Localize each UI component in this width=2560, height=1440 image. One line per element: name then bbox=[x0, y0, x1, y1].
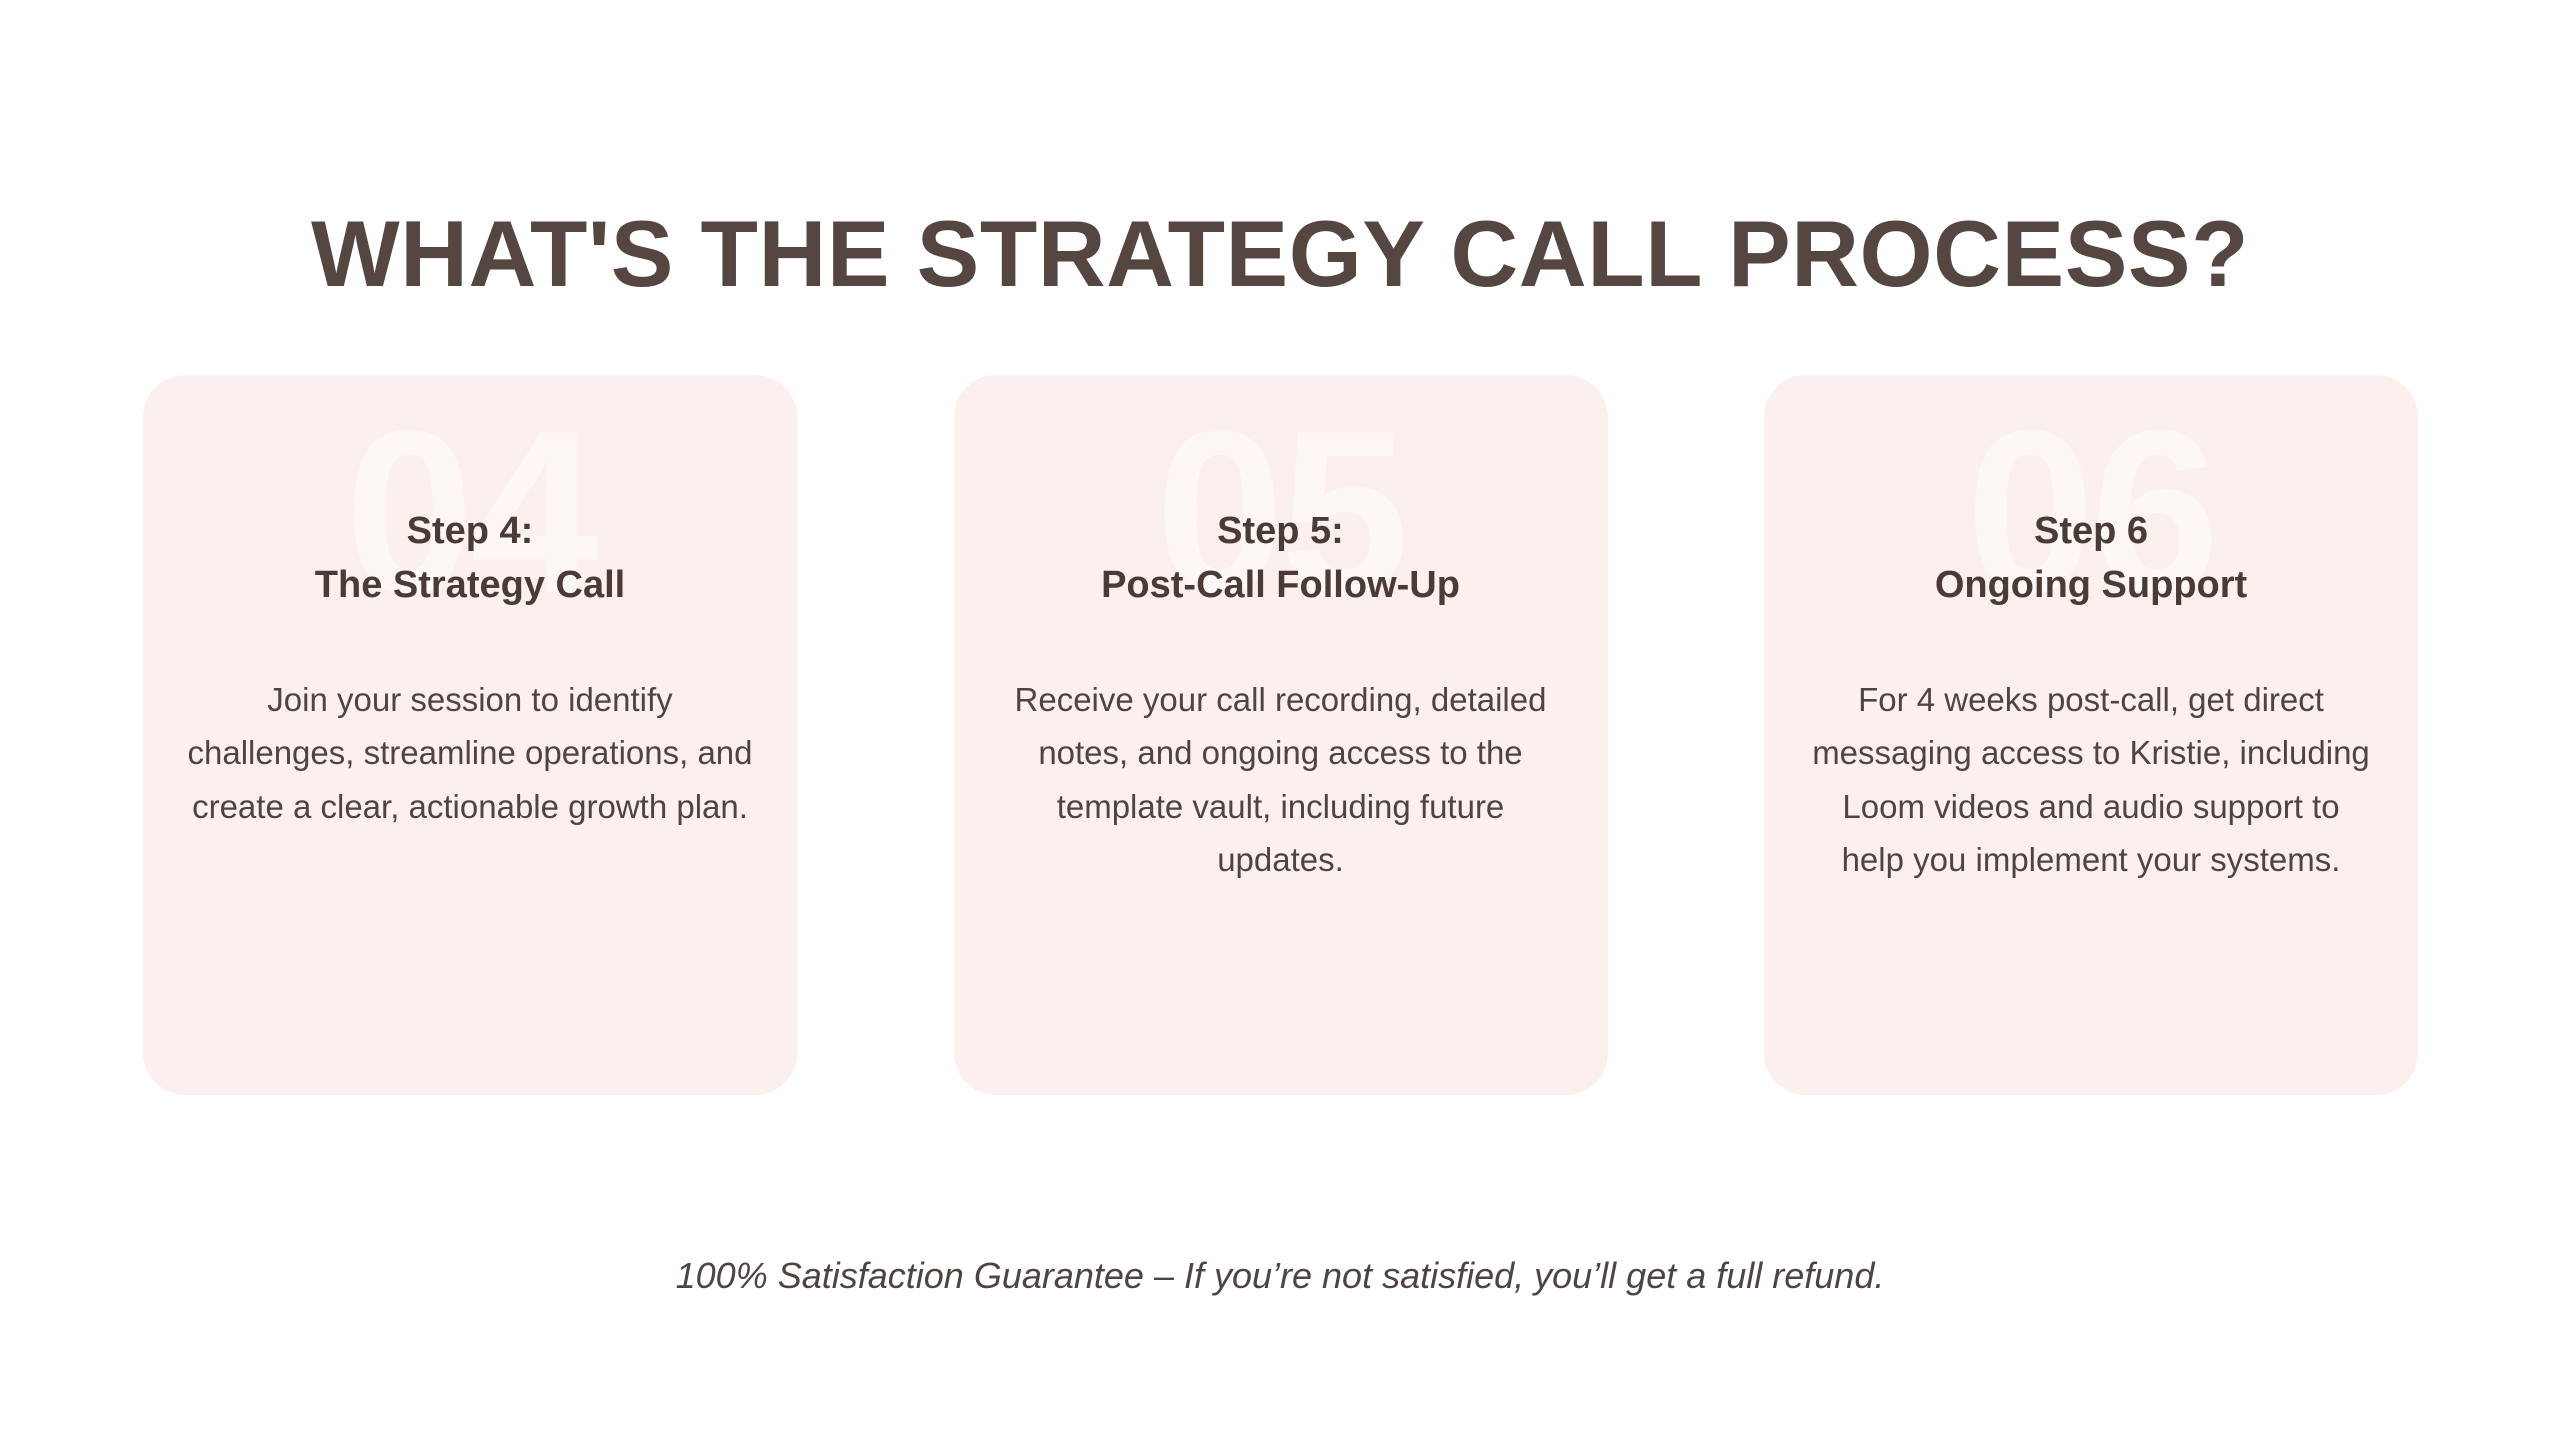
step-card-4: 04 Step 4: The Strategy Call Join your s… bbox=[143, 375, 797, 1095]
slide-canvas: WHAT'S THE STRATEGY CALL PROCESS? 04 Ste… bbox=[0, 0, 2560, 1440]
step-card-5-content: Step 5: Post-Call Follow-Up Receive your… bbox=[954, 375, 1608, 1095]
step-card-6-content: Step 6 Ongoing Support For 4 weeks post-… bbox=[1764, 375, 2418, 1095]
step-card-5-body: Receive your call recording, detailed no… bbox=[998, 673, 1564, 887]
page-title: WHAT'S THE STRATEGY CALL PROCESS? bbox=[0, 203, 2560, 305]
step-card-6-heading: Step 6 Ongoing Support bbox=[1808, 505, 2374, 613]
step-card-4-body: Join your session to identify challenges… bbox=[187, 673, 753, 833]
step-card-6-body: For 4 weeks post-call, get direct messag… bbox=[1808, 673, 2374, 887]
satisfaction-guarantee-text: 100% Satisfaction Guarantee – If you’re … bbox=[0, 1255, 2560, 1297]
step-card-4-content: Step 4: The Strategy Call Join your sess… bbox=[143, 375, 797, 1095]
step-card-5-heading: Step 5: Post-Call Follow-Up bbox=[998, 505, 1564, 613]
step-card-6: 06 Step 6 Ongoing Support For 4 weeks po… bbox=[1764, 375, 2418, 1095]
steps-card-row: 04 Step 4: The Strategy Call Join your s… bbox=[143, 375, 2418, 1095]
step-card-5: 05 Step 5: Post-Call Follow-Up Receive y… bbox=[954, 375, 1608, 1095]
step-card-4-heading: Step 4: The Strategy Call bbox=[187, 505, 753, 613]
